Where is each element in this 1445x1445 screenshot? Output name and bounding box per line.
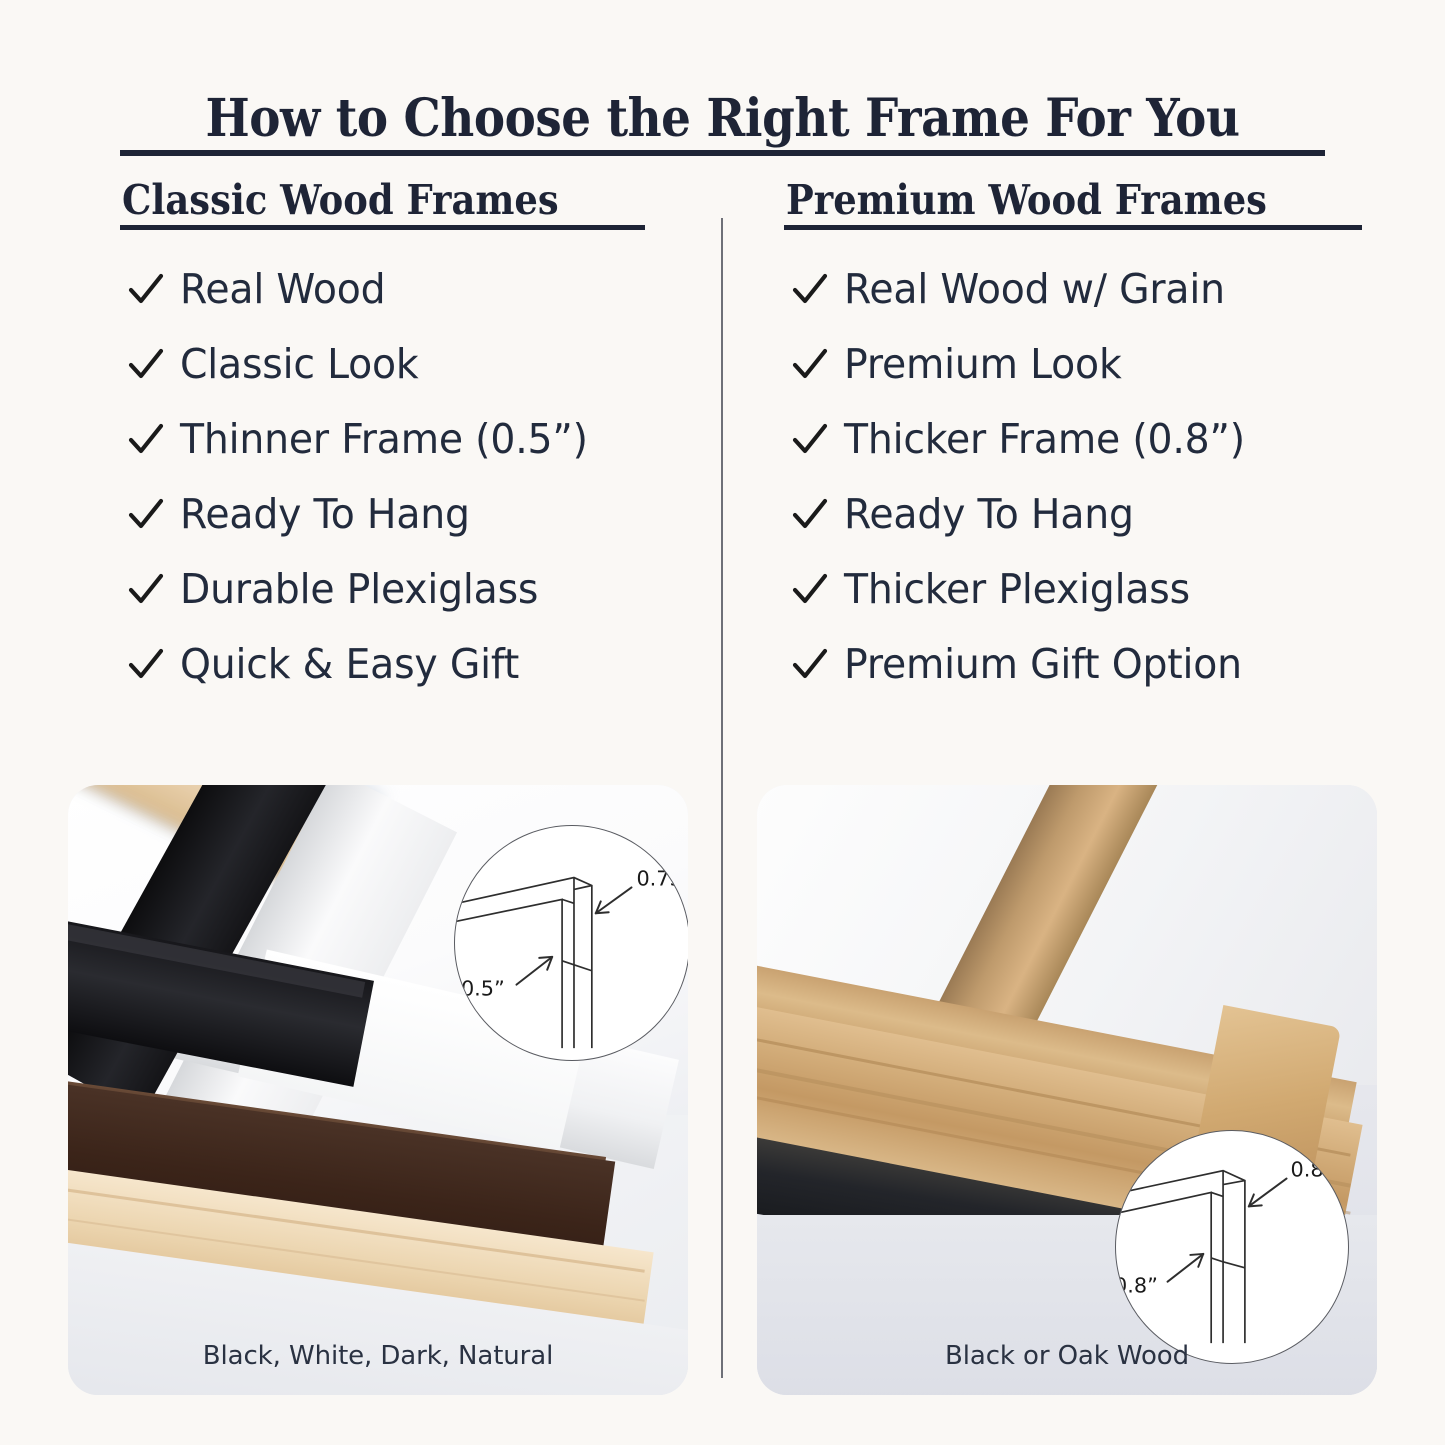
callout-width-label: 0.5” [461, 977, 505, 1001]
callout-premium-dimensions: 0.8” 0.8” [1115, 1130, 1349, 1364]
column-heading-premium: Premium Wood Frames [786, 176, 1267, 224]
photo-panel-classic: 0.75” 0.5” Black, White, Dark, Natural [68, 785, 688, 1395]
check-icon [790, 345, 844, 385]
infographic-page: How to Choose the Right Frame For You Cl… [0, 0, 1445, 1445]
column-heading-classic: Classic Wood Frames [122, 176, 559, 224]
list-item: Classic Look [126, 327, 605, 402]
list-item: Ready To Hang [790, 477, 1262, 552]
feature-label: Thinner Frame (0.5”) [180, 419, 588, 460]
feature-label: Real Wood w/ Grain [844, 269, 1225, 310]
check-icon [126, 345, 180, 385]
feature-label: Ready To Hang [844, 494, 1134, 535]
page-title: How to Choose the Right Frame For You [72, 88, 1373, 149]
page-title-underline [120, 150, 1325, 156]
feature-list-classic: Real Wood Classic Look Thinner Frame (0.… [126, 252, 605, 702]
feature-label: Quick & Easy Gift [180, 644, 519, 685]
feature-label: Premium Look [844, 344, 1122, 385]
photo-caption-classic: Black, White, Dark, Natural [68, 1341, 688, 1371]
list-item: Durable Plexiglass [126, 552, 605, 627]
check-icon [126, 495, 180, 535]
list-item: Premium Look [790, 327, 1262, 402]
feature-label: Thicker Plexiglass [844, 569, 1190, 610]
check-icon [126, 570, 180, 610]
list-item: Premium Gift Option [790, 627, 1262, 702]
list-item: Thinner Frame (0.5”) [126, 402, 605, 477]
photo-panel-premium: 0.8” 0.8” Black or Oak Wood [757, 785, 1377, 1395]
list-item: Ready To Hang [126, 477, 605, 552]
check-icon [790, 270, 844, 310]
check-icon [790, 645, 844, 685]
feature-label: Premium Gift Option [844, 644, 1242, 685]
column-divider [721, 218, 723, 1378]
check-icon [126, 420, 180, 460]
list-item: Real Wood [126, 252, 605, 327]
column-heading-premium-underline [784, 225, 1362, 230]
feature-label: Real Wood [180, 269, 385, 310]
check-icon [790, 420, 844, 460]
feature-label: Ready To Hang [180, 494, 470, 535]
feature-label: Classic Look [180, 344, 419, 385]
list-item: Quick & Easy Gift [126, 627, 605, 702]
column-heading-classic-underline [120, 225, 645, 230]
list-item: Thicker Frame (0.8”) [790, 402, 1262, 477]
check-icon [126, 645, 180, 685]
feature-label: Thicker Frame (0.8”) [844, 419, 1245, 460]
callout-classic-dimensions: 0.75” 0.5” [454, 825, 688, 1061]
check-icon [790, 495, 844, 535]
feature-list-premium: Real Wood w/ Grain Premium Look Thicker … [790, 252, 1262, 702]
check-icon [126, 270, 180, 310]
list-item: Real Wood w/ Grain [790, 252, 1262, 327]
list-item: Thicker Plexiglass [790, 552, 1262, 627]
photo-caption-premium: Black or Oak Wood [757, 1341, 1377, 1371]
feature-label: Durable Plexiglass [180, 569, 538, 610]
check-icon [790, 570, 844, 610]
